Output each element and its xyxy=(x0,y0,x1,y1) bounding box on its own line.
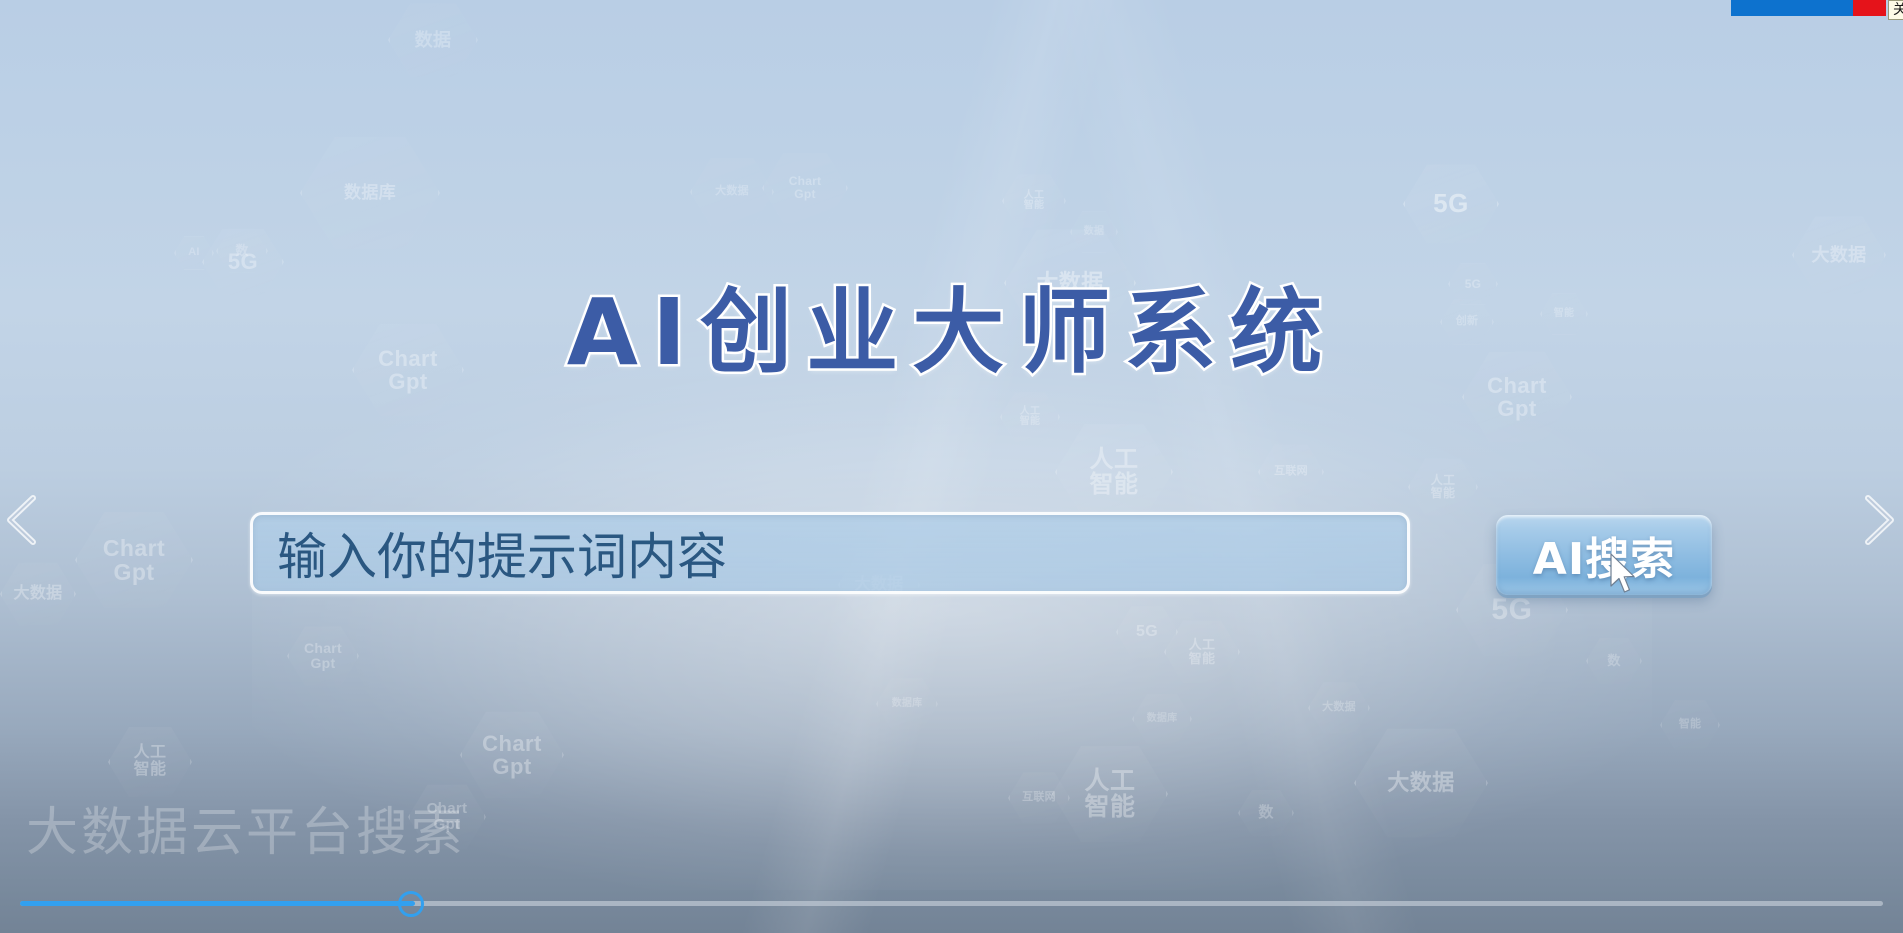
prompt-input[interactable]: 输入你的提示词内容 xyxy=(250,512,1410,594)
background-tag-label: 人工 智能 xyxy=(1084,768,1135,821)
center-glow xyxy=(252,330,1652,890)
background-tag-label: 5G xyxy=(1465,278,1482,291)
slider-handle[interactable] xyxy=(398,891,424,917)
background-tag-label: 5G xyxy=(1491,594,1532,626)
background-tag: 人工 智能 xyxy=(108,724,192,800)
background-tag-label: 5G xyxy=(1433,190,1469,217)
search-row: 输入你的提示词内容 AI搜索 xyxy=(0,512,1903,598)
background-tag-label: Chart Gpt xyxy=(789,175,822,200)
background-tag: Chart Gpt xyxy=(1462,348,1572,446)
background-tag-label: 智能 xyxy=(1679,719,1701,731)
background-tag: 5G xyxy=(1403,161,1499,247)
background-tag-label: 数据 xyxy=(1084,227,1104,238)
slider-fill xyxy=(20,901,415,906)
background-tag: Chart Gpt xyxy=(287,624,359,688)
ai-search-button-label: AI搜索 xyxy=(1533,523,1675,587)
background-tag-label: Chart Gpt xyxy=(1487,374,1547,420)
background-tag: 5G xyxy=(1448,262,1498,306)
background-tag-label: AI xyxy=(188,247,199,259)
background-tag-label: 互联网 xyxy=(1022,792,1056,804)
background-tag-label: Chart Gpt xyxy=(482,732,542,778)
background-tag: 数 xyxy=(216,228,268,274)
background-tag: 人工 智能 xyxy=(1000,390,1060,444)
title-container: AI创业大师系统 xyxy=(0,285,1903,382)
background-tag: 互联网 xyxy=(1258,442,1324,502)
light-streaks xyxy=(0,0,1903,933)
chevron-left-icon xyxy=(2,490,48,550)
background-tag: 智能 xyxy=(1660,698,1720,752)
background-tag: Chart Gpt xyxy=(460,708,564,802)
background-tag-label: 智能 xyxy=(1554,309,1574,320)
background-tag: 5G xyxy=(202,226,284,298)
background-tag: 数据库 xyxy=(300,132,440,254)
bottom-progress-slider[interactable] xyxy=(0,891,1903,915)
background-tag: 智能 xyxy=(1540,292,1588,336)
background-tag: 数据 xyxy=(1070,210,1118,254)
background-tag-label: 人工 智能 xyxy=(134,745,167,779)
background-tag-label: 大数据 xyxy=(1811,246,1866,265)
watermark-text: 大数据云平台搜索 xyxy=(26,790,466,865)
close-tooltip: 关闭 xyxy=(1888,0,1903,20)
ai-search-button[interactable]: AI搜索 xyxy=(1496,515,1712,595)
background-tag: 数据库 xyxy=(1132,692,1192,746)
background-tag-label: 大数据 xyxy=(1322,702,1356,714)
background-tag-label: 5G xyxy=(228,250,258,273)
background-tag-label: 数据库 xyxy=(344,184,396,202)
background-tag-label: 数据库 xyxy=(1147,714,1178,725)
background-tag-label: Chart Gpt xyxy=(427,801,468,833)
background-tag-label: 创新 xyxy=(1456,316,1478,328)
background-tag-label: 数据 xyxy=(415,31,452,50)
background-tag-label: 人工 智能 xyxy=(1024,191,1044,212)
background-tag: 5G xyxy=(1116,604,1178,660)
slide-stage: 数据库大数据Chart Gpt5G数Chart Gpt大数据人工 智能人工 智能… xyxy=(0,0,1903,933)
background-tag: AI xyxy=(174,235,214,271)
background-tag-label: Chart Gpt xyxy=(378,347,438,393)
background-tag-label: 大数据 xyxy=(715,186,749,198)
background-tag-label: 数据库 xyxy=(892,699,923,710)
background-tag: 数据 xyxy=(388,0,478,80)
carousel-prev-button[interactable] xyxy=(2,490,48,550)
background-tag-label: 人工 智能 xyxy=(1090,447,1139,497)
background-tag-label: 互联网 xyxy=(1274,466,1308,478)
background-tag: 人工 智能 xyxy=(1408,456,1478,518)
prompt-input-placeholder: 输入你的提示词内容 xyxy=(277,517,727,589)
close-window-button[interactable] xyxy=(1853,0,1886,16)
background-tag: 人工 智能 xyxy=(1055,420,1173,524)
background-tag: 数据库 xyxy=(876,676,938,732)
background-tag-label: 数 xyxy=(1258,805,1273,821)
background-tag-label: 人工 智能 xyxy=(1431,474,1455,499)
background-tag: 数 xyxy=(1586,636,1642,686)
background-tag-label: 大数据 xyxy=(1387,771,1454,794)
page-title: AI创业大师系统 xyxy=(567,285,1336,382)
background-tag: 大数据 xyxy=(1354,724,1488,842)
chevron-right-icon xyxy=(1853,490,1899,550)
background-tag-label: 人工 智能 xyxy=(1189,638,1216,665)
background-tag: 大数据 xyxy=(1308,680,1370,736)
background-tag: 人工 智能 xyxy=(1052,742,1168,846)
background-tag-label: Chart Gpt xyxy=(304,641,342,670)
background-tag: 大数据 xyxy=(1004,225,1136,341)
background-tag: Chart Gpt xyxy=(408,782,486,852)
background-tag-label: 数 xyxy=(235,244,248,258)
background-tag-label: 5G xyxy=(1136,624,1158,641)
background-tag: 人工 智能 xyxy=(1164,618,1240,686)
background-tag-label: 数 xyxy=(1607,654,1620,668)
background-tag: 互联网 xyxy=(1008,770,1070,826)
background-tag-label: 大数据 xyxy=(1036,271,1103,294)
background-tag: Chart Gpt xyxy=(352,320,464,420)
background-tag: 大数据 xyxy=(690,155,774,229)
background-tag: 人工 智能 xyxy=(1002,172,1066,230)
carousel-next-button[interactable] xyxy=(1853,490,1899,550)
background-tag: Chart Gpt xyxy=(762,150,848,226)
background-tag: 创新 xyxy=(1440,298,1494,346)
taskbar-blue-sliver xyxy=(1731,0,1853,16)
background-tag-label: 人工 智能 xyxy=(1020,407,1040,428)
background-tag: 大数据 xyxy=(1792,213,1886,297)
background-tag: 数 xyxy=(1238,788,1294,838)
